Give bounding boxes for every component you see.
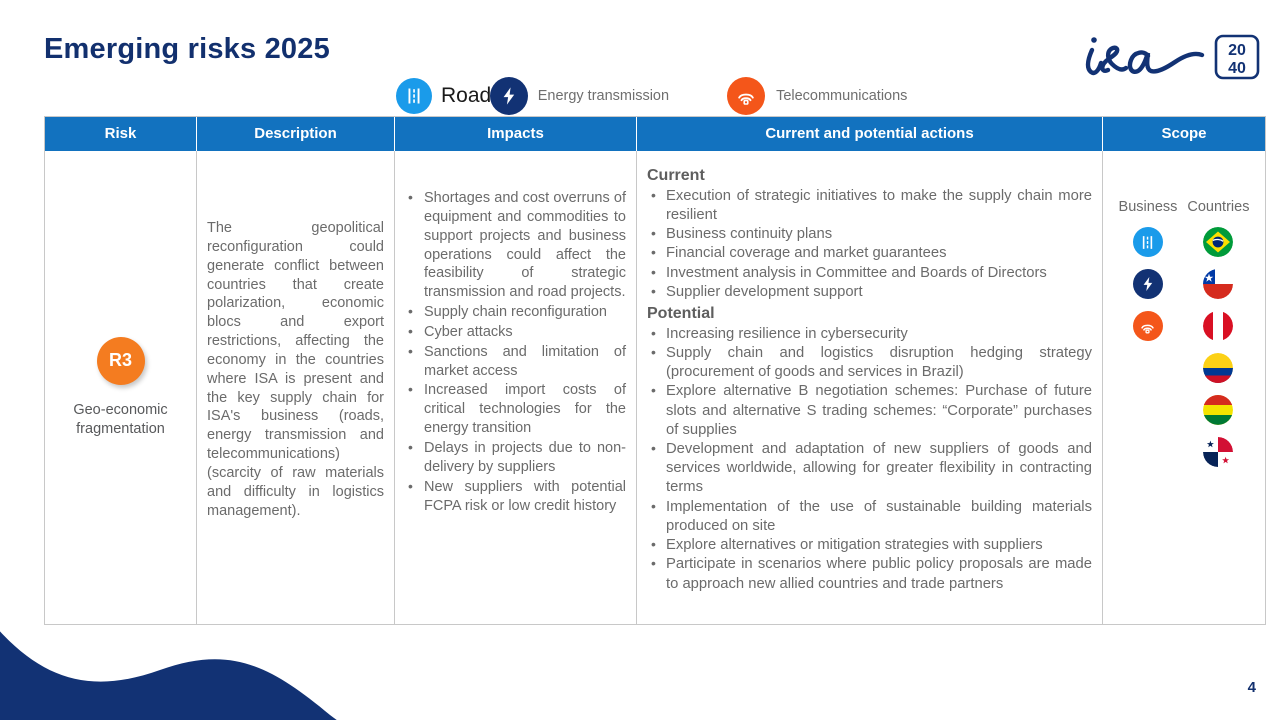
scope-countries-heading: Countries [1187,199,1249,215]
logo-badge-top: 20 [1228,42,1246,59]
page-number: 4 [1248,679,1256,696]
list-item: Supply chain and logistics disruption he… [647,344,1092,382]
list-item: Supply chain reconfiguration [405,303,626,322]
column-header-actions: Current and potential actions [637,117,1103,151]
list-item: Cyber attacks [405,323,626,342]
legend: Roads Energy transmission Telecommunicat… [396,76,907,116]
actions-heading-current: Current [647,165,1092,187]
list-item: Delays in projects due to non-delivery b… [405,439,626,477]
flag-chile-icon [1203,269,1233,299]
list-item: Investment analysis in Committee and Boa… [647,264,1092,283]
list-item: Development and adaptation of new suppli… [647,440,1092,498]
risk-badge: R3 [97,337,145,385]
list-item: Financial coverage and market guarantees [647,244,1092,263]
list-item: Increased import costs of critical techn… [405,381,626,438]
legend-item-roads: Roads [396,78,490,114]
list-item: Increasing resilience in cybersecurity [647,325,1092,344]
legend-item-energy: Energy transmission [490,77,669,115]
cell-scope: Business [1103,151,1265,624]
cell-risk: R3 Geo-economic fragmentation [45,151,197,624]
logo-badge-bottom: 40 [1228,60,1246,77]
table-row: R3 Geo-economic fragmentation The geopol… [45,151,1265,624]
cell-description: The geopolitical reconfiguration could g… [197,151,395,624]
list-item: Execution of strategic initiatives to ma… [647,187,1092,225]
legend-item-telecom: Telecommunications [727,77,907,115]
impacts-list: Shortages and cost overruns of equipment… [405,189,626,515]
scope-business-heading: Business [1119,199,1178,215]
column-header-scope: Scope [1103,117,1265,151]
flag-panama-icon [1203,437,1233,467]
table-header-row: Risk Description Impacts Current and pot… [45,117,1265,151]
list-item: Sanctions and limitation of market acces… [405,343,626,381]
isa-logo: 20 40 [1074,26,1264,88]
risk-table: Risk Description Impacts Current and pot… [44,116,1266,625]
footer-wave-decoration [0,610,420,720]
risk-name: Geo-economic fragmentation [55,401,186,438]
list-item: Supplier development support [647,283,1092,302]
column-header-description: Description [197,117,395,151]
cell-impacts: Shortages and cost overruns of equipment… [395,151,637,624]
flag-peru-icon [1203,311,1233,341]
list-item: Implementation of the use of sustainable… [647,498,1092,536]
actions-potential-list: Increasing resilience in cybersecurity S… [647,325,1092,594]
scope-business-column: Business [1119,199,1178,479]
list-item: Participate in scenarios where public po… [647,555,1092,593]
flag-colombia-icon [1203,353,1233,383]
isa-logo-mark: 20 40 [1074,26,1264,88]
scope-countries-column: Countries [1187,199,1249,479]
telecommunications-icon [727,77,765,115]
page-title: Emerging risks 2025 [44,33,330,66]
list-item: Shortages and cost overruns of equipment… [405,189,626,302]
roads-icon [396,78,432,114]
actions-current-list: Execution of strategic initiatives to ma… [647,187,1092,302]
list-item: Explore alternative B negotiation scheme… [647,382,1092,440]
list-item: Explore alternatives or mitigation strat… [647,536,1092,555]
column-header-impacts: Impacts [395,117,637,151]
column-header-risk: Risk [45,117,197,151]
description-text: The geopolitical reconfiguration could g… [207,219,384,521]
telecommunications-icon [1133,311,1163,341]
list-item: New suppliers with potential FCPA risk o… [405,478,626,516]
flag-bolivia-icon [1203,395,1233,425]
roads-icon [1133,227,1163,257]
cell-actions: Current Execution of strategic initiativ… [637,151,1103,624]
actions-heading-potential: Potential [647,303,1092,325]
energy-transmission-icon [1133,269,1163,299]
legend-label-telecom: Telecommunications [776,88,907,104]
energy-transmission-icon [490,77,528,115]
list-item: Business continuity plans [647,225,1092,244]
legend-label-energy: Energy transmission [538,88,669,104]
flag-brazil-icon [1203,227,1233,257]
